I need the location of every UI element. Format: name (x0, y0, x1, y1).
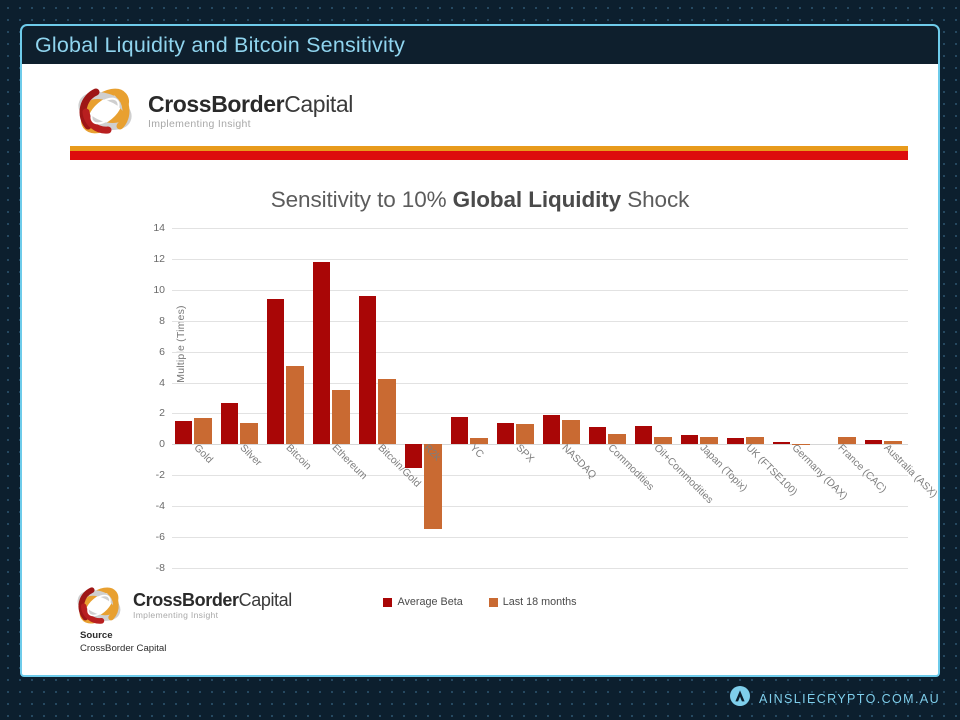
y-tick-label: 2 (159, 407, 165, 419)
bar-group: Germany (DAX) (770, 228, 816, 568)
y-tick-label: -4 (156, 500, 165, 512)
bar-group: Ethereum (310, 228, 356, 568)
bar-last-18-months (516, 424, 533, 445)
x-axis-tick-label: SPX (513, 443, 535, 465)
ainslie-a-logo-icon (730, 686, 750, 711)
bar-average-beta (359, 296, 376, 444)
y-tick-label: -6 (156, 531, 165, 543)
bar-group: Gold (172, 228, 218, 568)
wordmark-light: Capital (284, 91, 353, 117)
x-axis-tick-label: Bitcoin (283, 443, 313, 473)
bar-group: YC (448, 228, 494, 568)
y-tick-label: 10 (153, 284, 165, 296)
chart-title: Sensitivity to 10% Global Liquidity Shoc… (22, 187, 938, 213)
bar-average-beta (727, 438, 744, 444)
chart-plot-area: Multiple (Times) 14121086420-2-4-6-8 Gol… (118, 228, 908, 568)
source-block: Source CrossBorder Capital (80, 630, 166, 656)
crossborder-tagline-footer: Implementing Insight (133, 611, 292, 620)
bar-average-beta (773, 442, 790, 444)
bar-group: UK (FTSE100) (724, 228, 770, 568)
bar-last-18-months (378, 379, 395, 444)
crossborder-wordmark-line: CrossBorderCapital (148, 93, 353, 116)
bar-last-18-months (286, 366, 303, 445)
y-tick-label: 4 (159, 377, 165, 389)
y-tick-label: 8 (159, 315, 165, 327)
legend-item: Average Beta (383, 596, 462, 608)
bar-average-beta (221, 403, 238, 445)
chart-title-emphasis: Global Liquidity (453, 187, 621, 212)
bar-group: NASDAQ (540, 228, 586, 568)
page-title: Global Liquidity and Bitcoin Sensitivity (35, 33, 405, 58)
bar-group: Bitcoin (264, 228, 310, 568)
crossborder-wordmark: CrossBorderCapital Implementing Insight (148, 93, 353, 130)
bar-group: Bitcoin/Gold (356, 228, 402, 568)
divider-stripe-red (70, 151, 908, 160)
x-axis-tick-label: YC (467, 443, 485, 461)
crossborder-logo-footer: CrossBorderCapital Implementing Insight (74, 582, 292, 629)
bar-average-beta (405, 444, 422, 467)
bar-last-18-months (194, 418, 211, 444)
bar-group: Australia (ASX) (862, 228, 908, 568)
y-tick-label: -2 (156, 469, 165, 481)
y-tick-label: -8 (156, 562, 165, 574)
chart-title-part-1: Sensitivity to 10% (271, 187, 453, 212)
y-tick-label: 6 (159, 346, 165, 358)
x-axis-tick-label: Australia (ASX) (881, 443, 939, 501)
slide-title-bar: Global Liquidity and Bitcoin Sensitivity (20, 24, 940, 64)
bar-average-beta (543, 415, 560, 444)
crossborder-wordmark-line-footer: CrossBorderCapital (133, 591, 292, 609)
x-axis-tick-label: Silver (237, 443, 263, 469)
wordmark-light-footer: Capital (239, 590, 292, 610)
bar-last-18-months (608, 434, 625, 445)
source-label: Source (80, 630, 166, 643)
bar-group: Commodities (586, 228, 632, 568)
bar-last-18-months (332, 390, 349, 444)
crossborder-logo-header: CrossBorderCapital Implementing Insight (74, 82, 353, 140)
brand-divider (70, 146, 908, 160)
chart-bars: GoldSilverBitcoinEthereumBitcoin/GoldR2k… (172, 228, 908, 568)
crossborder-wordmark-footer: CrossBorderCapital Implementing Insight (133, 591, 292, 620)
x-axis-tick-label: Gold (191, 443, 214, 466)
bar-last-18-months (562, 420, 579, 444)
bar-group: Oil+Commodities (632, 228, 678, 568)
bar-group: France (CAC) (816, 228, 862, 568)
crossborder-swoosh-icon (74, 82, 136, 140)
gridline--8: -8 (172, 568, 908, 569)
legend-label: Last 18 months (503, 596, 577, 608)
chart-title-part-2: Shock (621, 187, 689, 212)
slide-panel: CrossBorderCapital Implementing Insight … (20, 63, 940, 677)
bar-average-beta (865, 440, 882, 445)
bar-last-18-months (240, 423, 257, 445)
bar-average-beta (589, 427, 606, 444)
bar-group: R2k (402, 228, 448, 568)
wordmark-bold-footer: CrossBorder (133, 590, 239, 610)
y-tick-label: 0 (159, 438, 165, 450)
bar-group: Silver (218, 228, 264, 568)
bar-group: Japan (Topix) (678, 228, 724, 568)
bar-average-beta (313, 262, 330, 444)
y-tick-label: 14 (153, 222, 165, 234)
y-tick-label: 12 (153, 253, 165, 265)
site-branding: AINSLIECRYPTO.COM.AU (730, 686, 940, 711)
site-url: AINSLIECRYPTO.COM.AU (759, 692, 940, 706)
crossborder-swoosh-icon-footer (74, 582, 124, 629)
legend-item: Last 18 months (489, 596, 577, 608)
crossborder-tagline: Implementing Insight (148, 119, 353, 130)
bar-average-beta (175, 421, 192, 444)
bar-average-beta (267, 299, 284, 444)
legend-label: Average Beta (397, 596, 462, 608)
wordmark-bold: CrossBorder (148, 91, 284, 117)
bar-average-beta (635, 426, 652, 445)
source-value: CrossBorder Capital (80, 643, 166, 656)
bar-average-beta (681, 435, 698, 444)
bar-group: SPX (494, 228, 540, 568)
legend-swatch-icon (489, 598, 498, 607)
bar-average-beta (497, 423, 514, 445)
legend-swatch-icon (383, 598, 392, 607)
bar-average-beta (451, 417, 468, 445)
